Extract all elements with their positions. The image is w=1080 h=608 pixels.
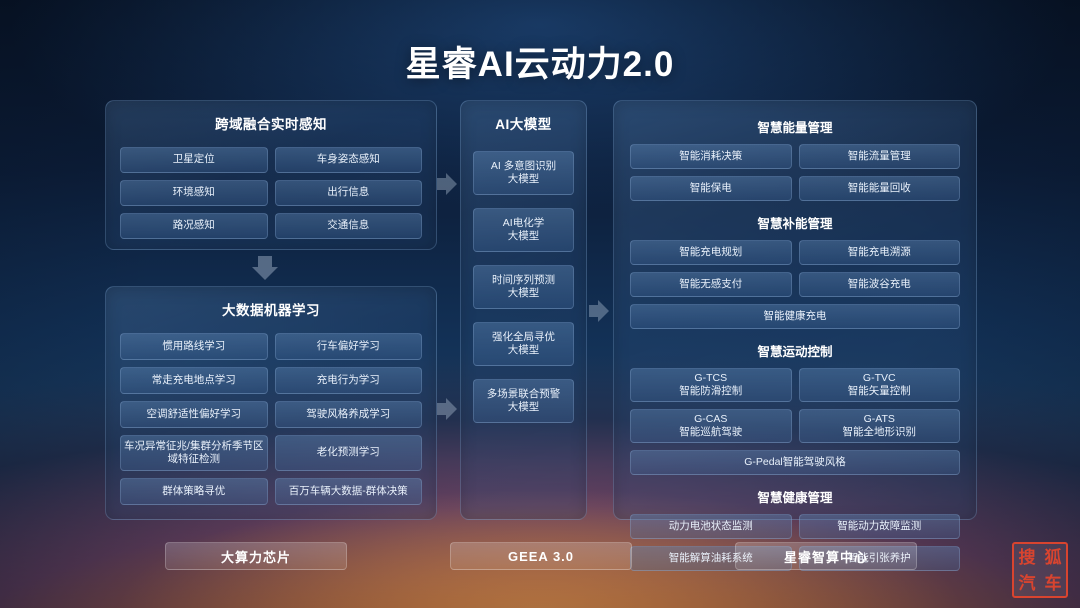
chip-charging-1[interactable]: 智能充电溯源 [799,240,961,265]
chip-bigdata-2[interactable]: 常走充电地点学习 [120,367,268,394]
chip-motion-3[interactable]: G-ATS 智能全地形识别 [799,409,961,443]
arrow-right-icon-mid [589,300,609,322]
footer-chip-compute[interactable]: 大算力芯片 [165,542,347,570]
chip-energy-0[interactable]: 智能消耗决策 [630,144,792,169]
arrow-right-icon-bottom [437,398,457,420]
arrow-down-icon [252,256,278,280]
chip-bigdata-4[interactable]: 空调舒适性偏好学习 [120,401,268,428]
group-title-energy: 智慧能量管理 [630,117,960,136]
chip-motion-wide[interactable]: G-Pedal智能驾驶风格 [630,450,960,475]
panel-ai-model-title: AI大模型 [473,113,574,133]
motion-chip-grid: G-TCS 智能防滑控制 G-TVC 智能矢量控制 G-CAS 智能巡航驾驶 G… [630,368,960,443]
chip-energy-1[interactable]: 智能流量管理 [799,144,961,169]
chip-perception-0[interactable]: 卫星定位 [120,147,268,173]
chip-energy-2[interactable]: 智能保电 [630,176,792,201]
panel-ai-model: AI大模型 AI 多意图识别 大模型 AI电化学 大模型 时间序列预测 大模型 … [460,100,587,520]
group-title-health: 智慧健康管理 [630,487,960,506]
chip-bigdata-8[interactable]: 群体策略寻优 [120,478,268,505]
chip-bigdata-6[interactable]: 车况异常征兆/集群分析季节区域特征检测 [120,435,268,471]
group-title-motion: 智慧运动控制 [630,341,960,360]
chip-model-3[interactable]: 强化全局寻优 大模型 [473,322,574,366]
chip-perception-4[interactable]: 路况感知 [120,213,268,239]
chip-perception-1[interactable]: 车身姿态感知 [275,147,423,173]
chip-perception-2[interactable]: 环境感知 [120,180,268,206]
ai-model-list: AI 多意图识别 大模型 AI电化学 大模型 时间序列预测 大模型 强化全局寻优… [473,151,574,423]
chip-bigdata-1[interactable]: 行车偏好学习 [275,333,423,360]
panel-smart-management: 智慧能量管理 智能消耗决策 智能流量管理 智能保电 智能能量回收 智慧补能管理 … [613,100,977,520]
chip-charging-2[interactable]: 智能无感支付 [630,272,792,297]
chip-bigdata-9[interactable]: 百万车辆大数据-群体决策 [275,478,423,505]
energy-chip-grid: 智能消耗决策 智能流量管理 智能保电 智能能量回收 [630,144,960,201]
chip-model-2[interactable]: 时间序列预测 大模型 [473,265,574,309]
charging-chip-grid: 智能充电规划 智能充电溯源 智能无感支付 智能波谷充电 [630,240,960,297]
panel-perception: 跨域融合实时感知 卫星定位 车身姿态感知 环境感知 出行信息 路况感知 交通信息 [105,100,437,250]
perception-chip-grid: 卫星定位 车身姿态感知 环境感知 出行信息 路况感知 交通信息 [120,147,422,239]
chip-bigdata-0[interactable]: 惯用路线学习 [120,333,268,360]
chip-bigdata-7[interactable]: 老化预测学习 [275,435,423,471]
watermark-char-1: 狐 [1045,549,1062,566]
page-title: 星睿AI云动力2.0 [0,36,1080,87]
chip-motion-2[interactable]: G-CAS 智能巡航驾驶 [630,409,792,443]
panel-bigdata: 大数据机器学习 惯用路线学习 行车偏好学习 常走充电地点学习 充电行为学习 空调… [105,286,437,520]
chip-bigdata-5[interactable]: 驾驶风格养成学习 [275,401,423,428]
chip-model-4[interactable]: 多场景联合预警 大模型 [473,379,574,423]
watermark-char-0: 搜 [1019,549,1036,566]
watermark-logo: 搜 狐 汽 车 [1012,542,1068,598]
chip-model-1[interactable]: AI电化学 大模型 [473,208,574,252]
footer-chip-center[interactable]: 星睿智算中心 [735,542,917,570]
watermark-char-3: 车 [1045,575,1062,592]
footer-chip-geea[interactable]: GEEA 3.0 [450,542,632,570]
group-title-charging: 智慧补能管理 [630,213,960,232]
chip-perception-5[interactable]: 交通信息 [275,213,423,239]
panel-perception-title: 跨域融合实时感知 [120,113,422,133]
chip-charging-3[interactable]: 智能波谷充电 [799,272,961,297]
chip-charging-wide[interactable]: 智能健康充电 [630,304,960,329]
chip-perception-3[interactable]: 出行信息 [275,180,423,206]
watermark-char-2: 汽 [1019,575,1036,592]
chip-energy-3[interactable]: 智能能量回收 [799,176,961,201]
chip-bigdata-3[interactable]: 充电行为学习 [275,367,423,394]
arrow-right-icon-top [437,173,457,195]
chip-model-0[interactable]: AI 多意图识别 大模型 [473,151,574,195]
chip-health-1[interactable]: 智能动力故障监测 [799,514,961,539]
chip-charging-0[interactable]: 智能充电规划 [630,240,792,265]
chip-health-0[interactable]: 动力电池状态监测 [630,514,792,539]
bigdata-chip-grid: 惯用路线学习 行车偏好学习 常走充电地点学习 充电行为学习 空调舒适性偏好学习 … [120,333,422,505]
chip-motion-1[interactable]: G-TVC 智能矢量控制 [799,368,961,402]
chip-motion-0[interactable]: G-TCS 智能防滑控制 [630,368,792,402]
panel-bigdata-title: 大数据机器学习 [120,299,422,319]
